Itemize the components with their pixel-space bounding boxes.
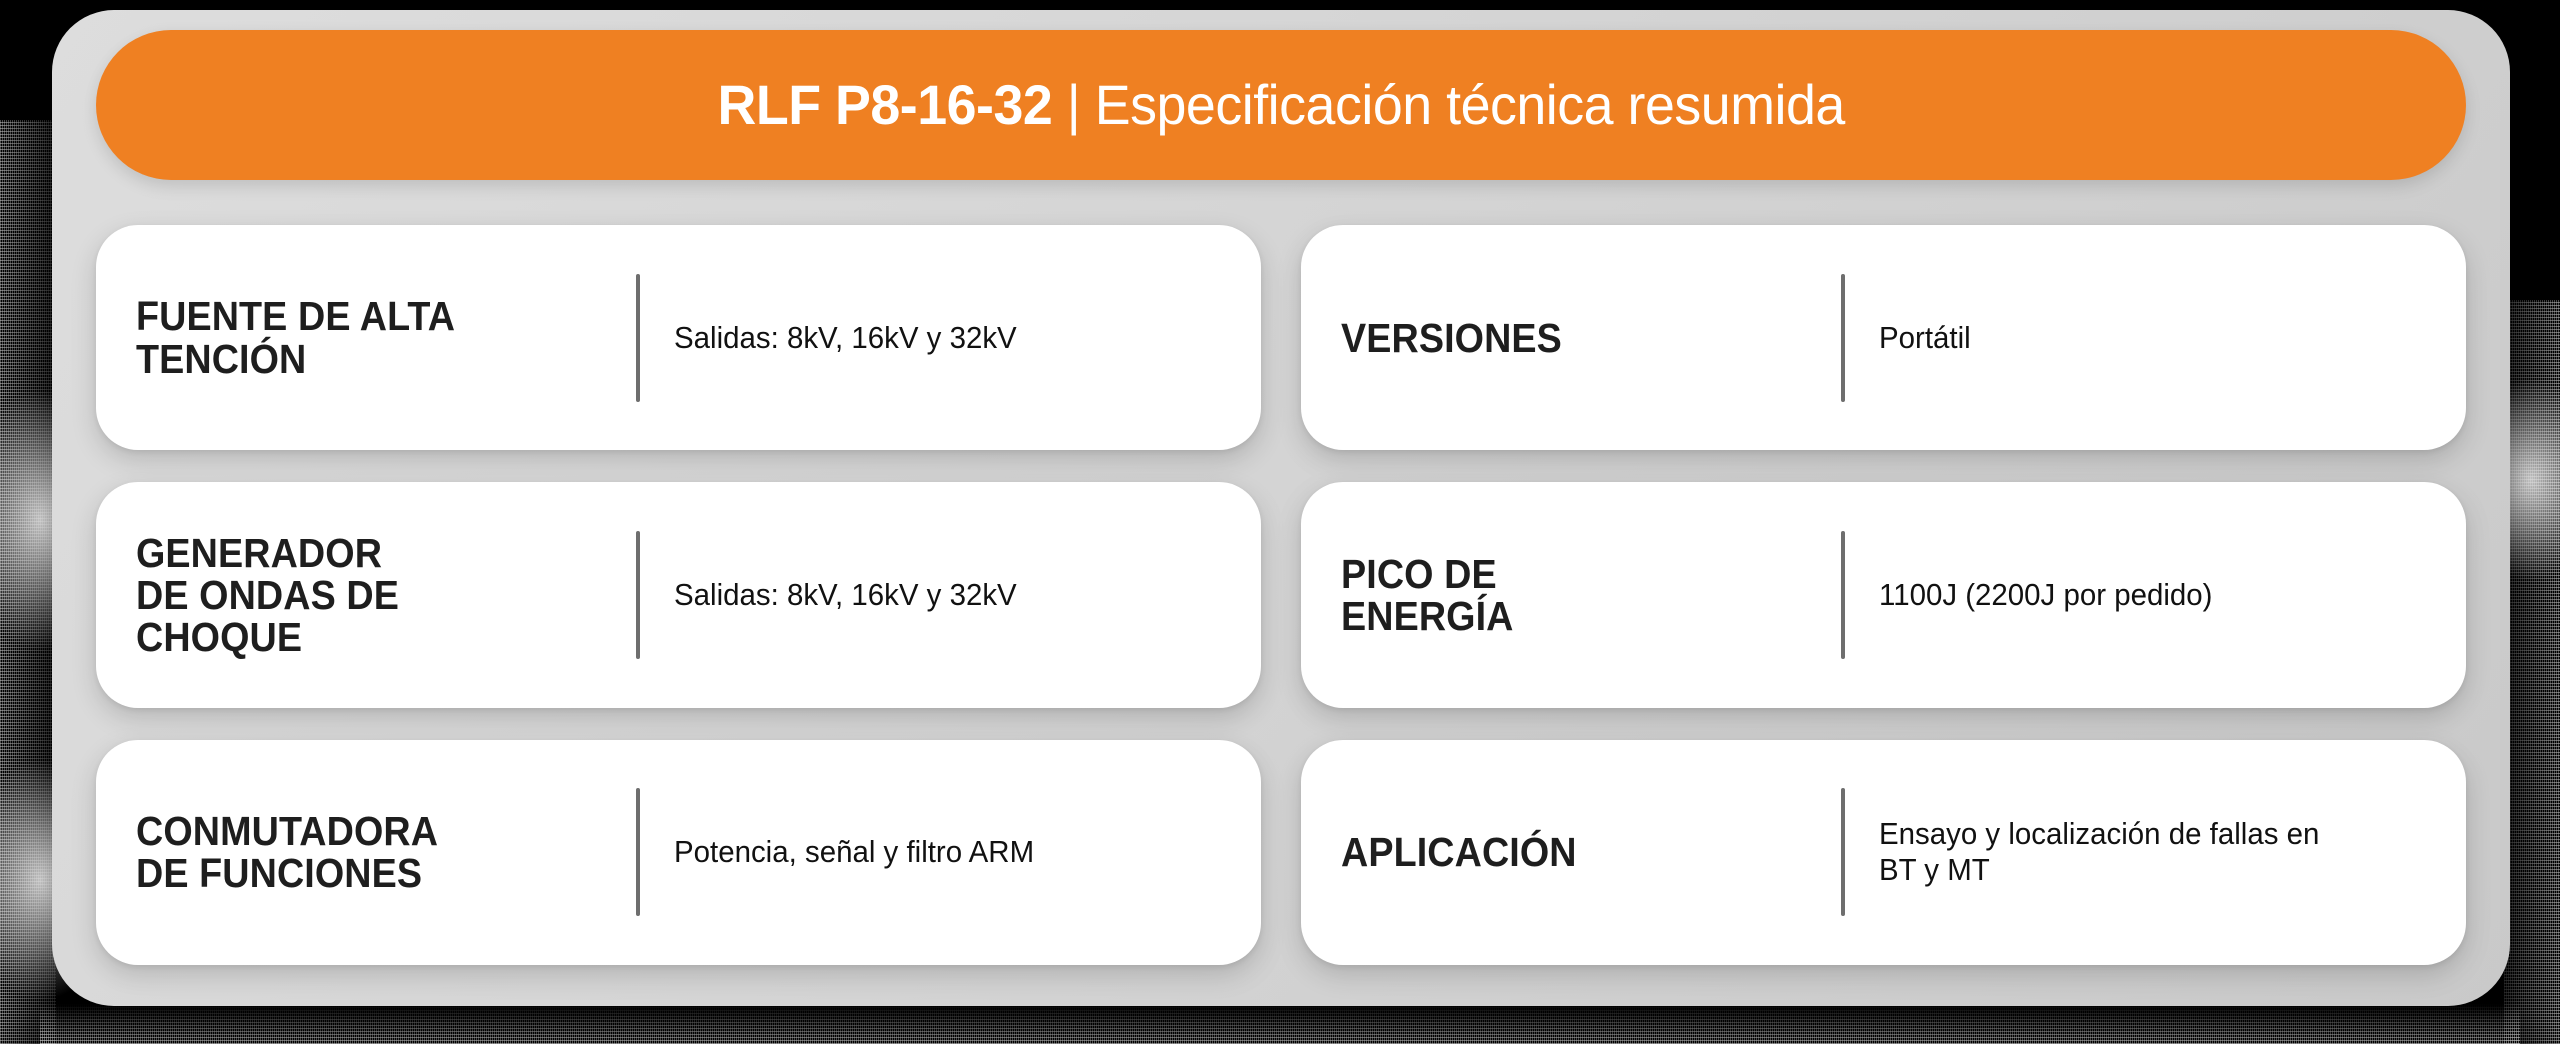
spec-divider	[636, 531, 640, 659]
spec-divider	[636, 788, 640, 916]
spec-divider	[1841, 788, 1845, 916]
spec-value: Salidas: 8kV, 16kV y 32kV	[674, 577, 1194, 613]
spec-label: PICO DE ENERGÍA	[1341, 553, 1801, 637]
spec-sheet-canvas: RLF P8-16-32 | Especificación técnica re…	[0, 0, 2560, 1044]
spec-divider	[1841, 531, 1845, 659]
spec-card-grid: FUENTE DE ALTA TENCIÓN Salidas: 8kV, 16k…	[96, 225, 2466, 965]
spec-label: CONMUTADORA DE FUNCIONES	[136, 810, 596, 894]
edge-noise-bottom	[40, 1004, 2520, 1044]
spec-value: Salidas: 8kV, 16kV y 32kV	[674, 320, 1194, 356]
header-bar: RLF P8-16-32 | Especificación técnica re…	[96, 30, 2466, 180]
spec-card: PICO DE ENERGÍA 1100J (2200J por pedido)	[1301, 482, 2466, 707]
spec-card: FUENTE DE ALTA TENCIÓN Salidas: 8kV, 16k…	[96, 225, 1261, 450]
spec-value: Ensayo y localización de fallas en BT y …	[1879, 816, 2399, 888]
spec-value: 1100J (2200J por pedido)	[1879, 577, 2399, 613]
page-title-separator: |	[1052, 73, 1094, 136]
spec-divider	[1841, 274, 1845, 402]
spec-value: Potencia, señal y filtro ARM	[674, 834, 1194, 870]
spec-divider	[636, 274, 640, 402]
spec-card: CONMUTADORA DE FUNCIONES Potencia, señal…	[96, 740, 1261, 965]
spec-card: VERSIONES Portátil	[1301, 225, 2466, 450]
spec-value: Portátil	[1879, 320, 2399, 356]
spec-label: VERSIONES	[1341, 317, 1801, 359]
spec-label: APLICACIÓN	[1341, 831, 1801, 873]
page-title: RLF P8-16-32 | Especificación técnica re…	[717, 77, 1844, 133]
edge-noise-right	[2504, 300, 2560, 1044]
spec-label: FUENTE DE ALTA TENCIÓN	[136, 295, 596, 379]
spec-card: GENERADOR DE ONDAS DE CHOQUE Salidas: 8k…	[96, 482, 1261, 707]
page-title-subtitle: Especificación técnica resumida	[1095, 73, 1845, 136]
spec-label: GENERADOR DE ONDAS DE CHOQUE	[136, 532, 596, 659]
page-title-model: RLF P8-16-32	[717, 73, 1052, 136]
spec-card: APLICACIÓN Ensayo y localización de fall…	[1301, 740, 2466, 965]
edge-noise-left	[0, 120, 56, 1044]
spec-panel: RLF P8-16-32 | Especificación técnica re…	[52, 10, 2510, 1006]
